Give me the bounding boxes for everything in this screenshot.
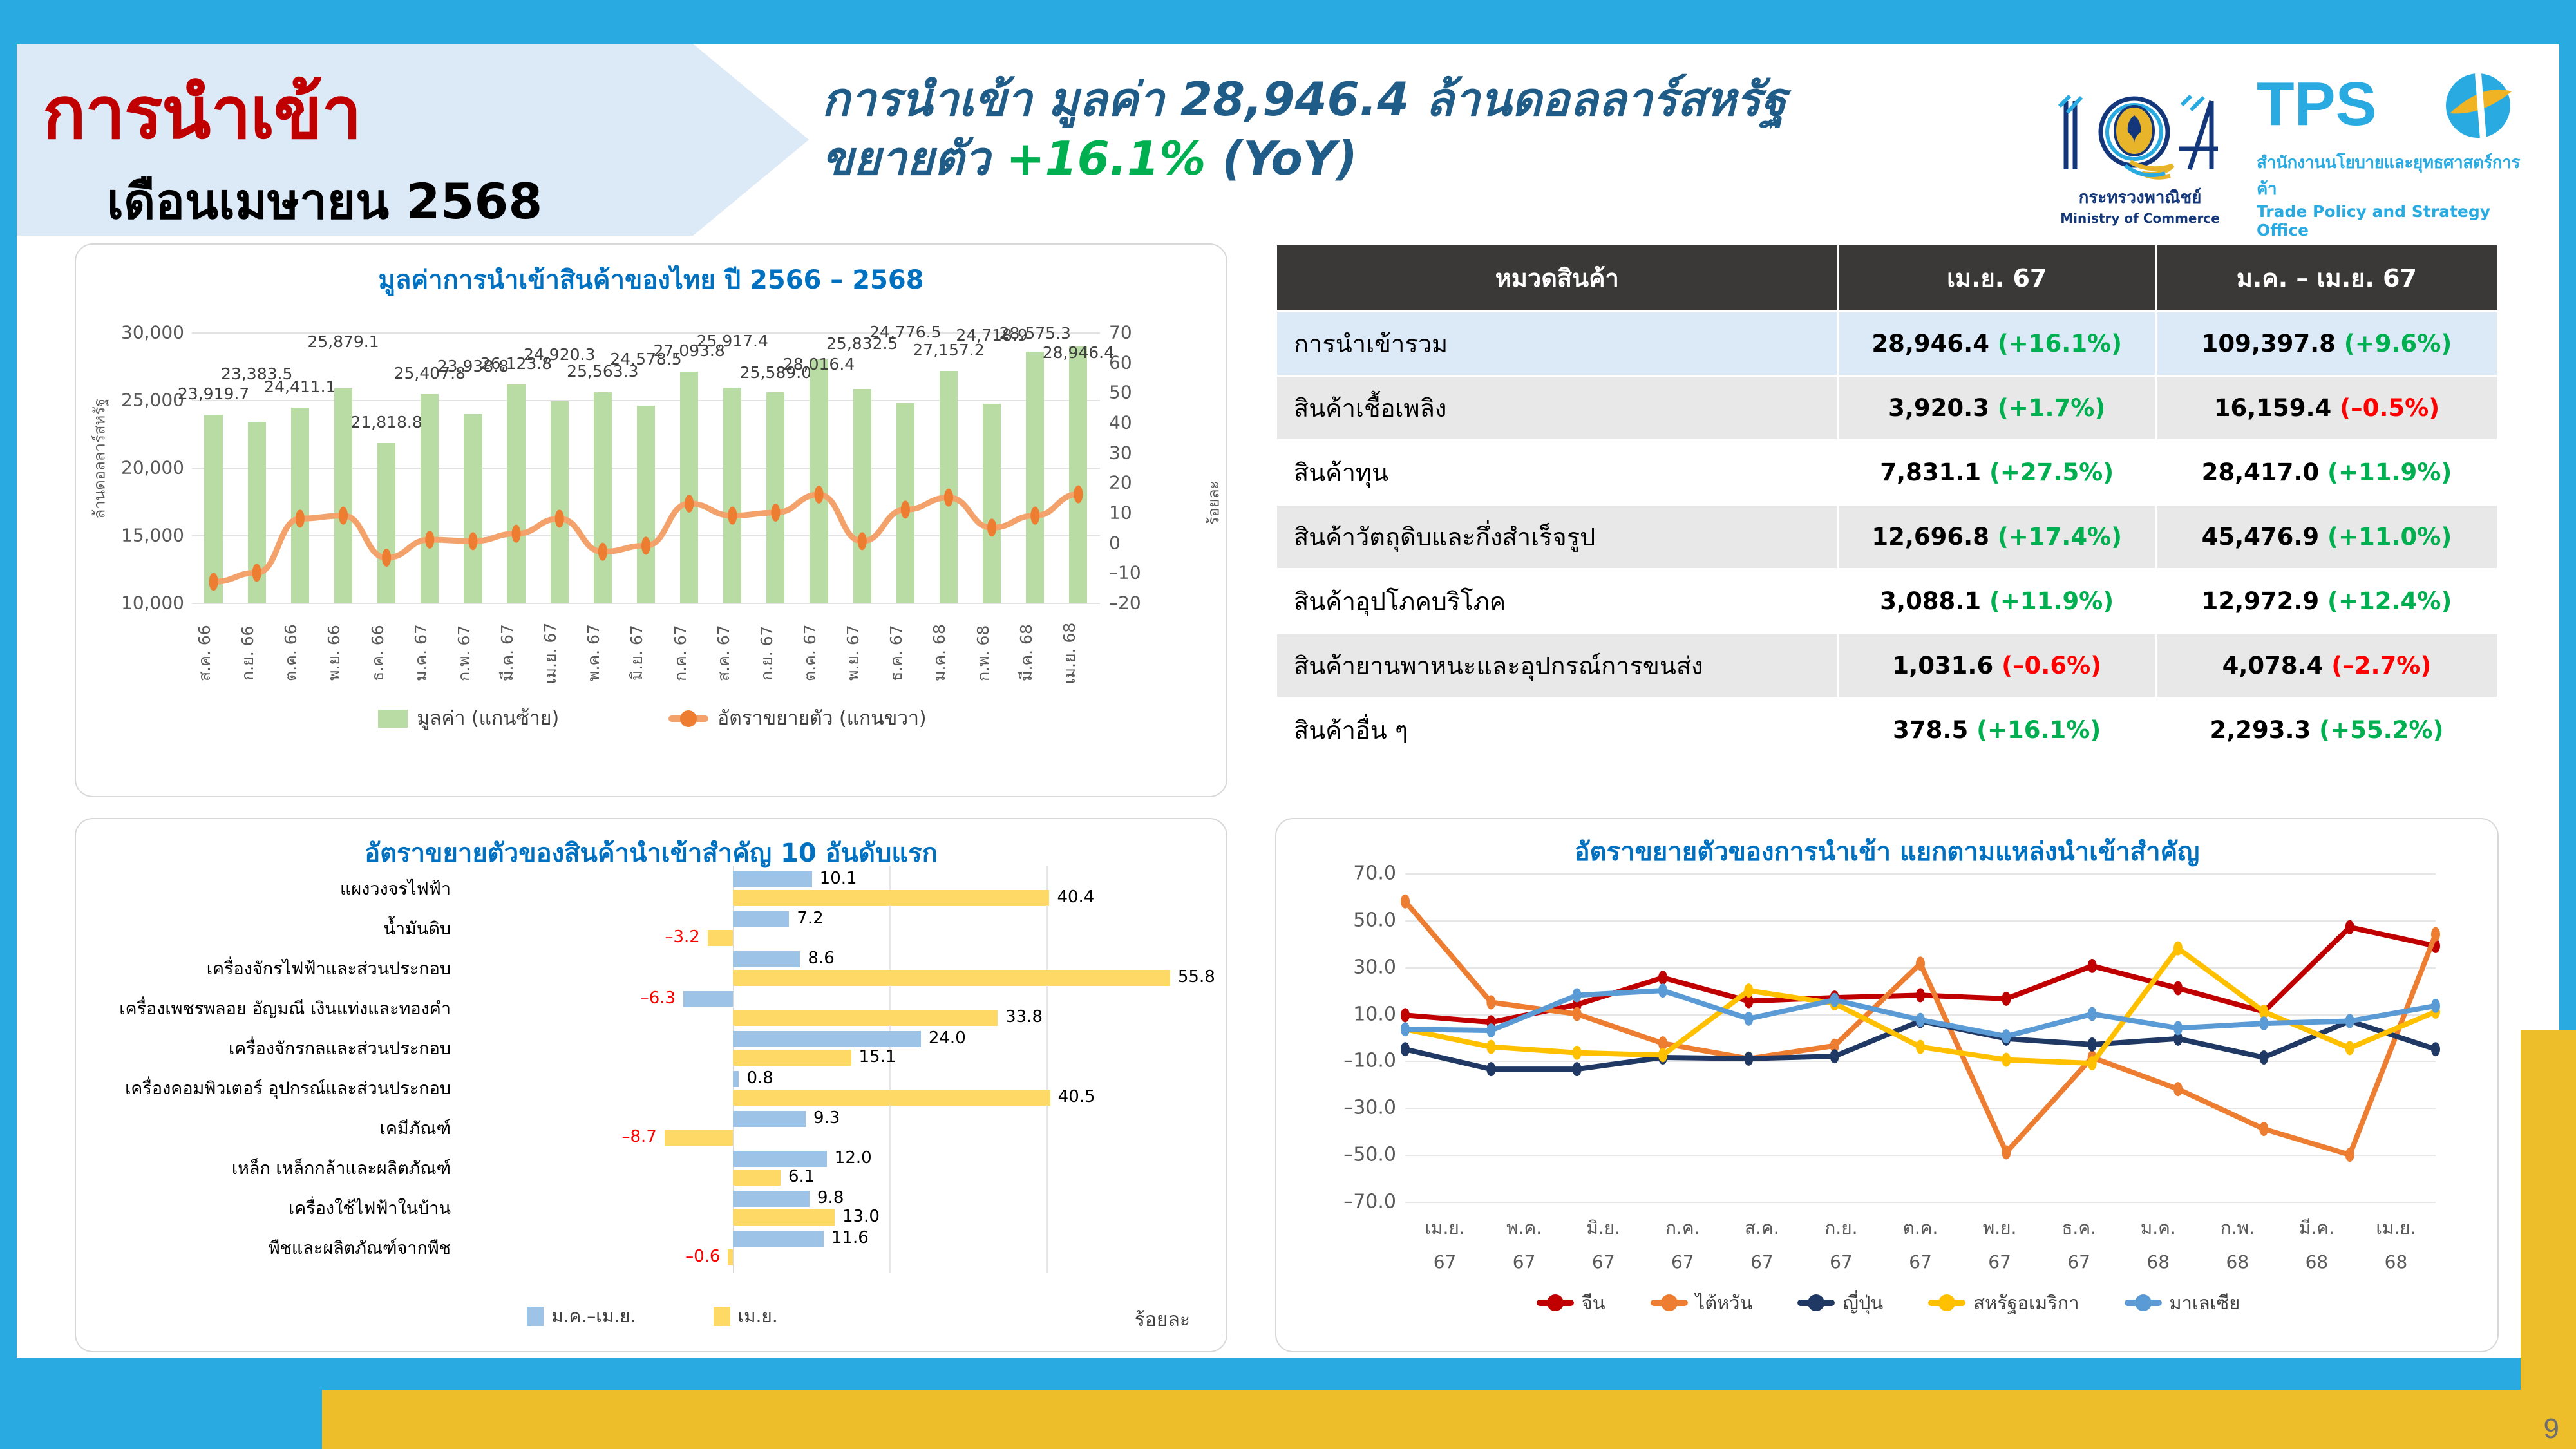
bar-value-label: –0.6 bbox=[685, 1247, 720, 1266]
legend-label: ไต้หวัน bbox=[1696, 1288, 1753, 1318]
top10-rows: แผงวงจรไฟฟ้า10.140.4น้ำมันดิบ7.2–3.2เครื… bbox=[102, 869, 1203, 1269]
table-row: การนำเข้ารวม28,946.4 (+16.1%)109,397.8 (… bbox=[1276, 312, 2498, 376]
legend-item-ญี่ปุ่น: ญี่ปุ่น bbox=[1797, 1288, 1883, 1318]
legend-label: ญี่ปุ่น bbox=[1842, 1288, 1883, 1318]
data-point bbox=[1486, 1040, 1495, 1054]
table-cell-cumulative: 4,078.4 (–2.7%) bbox=[2155, 634, 2497, 698]
x-axis-label: ธ.ค. 66 bbox=[365, 614, 408, 692]
data-point bbox=[1744, 1052, 1753, 1066]
data-point bbox=[1573, 1046, 1582, 1060]
table-cell-month: 378.5 (+16.1%) bbox=[1838, 698, 2155, 762]
combo-y2-axis-label: ร้อยละ bbox=[1201, 500, 1226, 526]
combo-y-axis-label: ล้านดอลลาร์สหรัฐ bbox=[87, 493, 112, 519]
cumulative-bar bbox=[733, 911, 790, 927]
legend-item-มาเลเซีย: มาเลเซีย bbox=[2125, 1288, 2240, 1318]
x-axis-label: เม.ย.68 bbox=[2356, 1211, 2436, 1279]
table-header-cumulative: ม.ค. – เม.ย. 67 bbox=[2155, 245, 2497, 312]
data-point bbox=[1916, 1040, 1925, 1054]
gridline bbox=[889, 1225, 891, 1273]
cumulative-bar bbox=[683, 991, 733, 1007]
bar-value-label: 7.2 bbox=[797, 909, 823, 928]
multiline-series bbox=[1405, 873, 2436, 1202]
bar-value-label: 15.1 bbox=[859, 1047, 896, 1066]
category-label: เครื่องใช้ไฟฟ้าในบ้าน bbox=[102, 1200, 462, 1218]
x-axis-label: ต.ค. 66 bbox=[278, 614, 321, 692]
data-point bbox=[2431, 927, 2440, 942]
bar-value-label: 12.0 bbox=[835, 1148, 872, 1168]
list-item: พืชและผลิตภัณฑ์จากพืช11.6–0.6 bbox=[102, 1229, 1203, 1269]
y-axis-tick: –10.0 bbox=[1343, 1050, 1396, 1072]
month-bar bbox=[708, 930, 733, 946]
table-cell-month: 3,920.3 (+1.7%) bbox=[1838, 376, 2155, 440]
x-axis-label: ส.ค. 66 bbox=[192, 614, 235, 692]
category-label: พืชและผลิตภัณฑ์จากพืช bbox=[102, 1240, 462, 1258]
data-point bbox=[1401, 1042, 1410, 1056]
table-cell-cumulative: 16,159.4 (–0.5%) bbox=[2155, 376, 2497, 440]
month-bar bbox=[728, 1249, 732, 1265]
x-axis-label: ส.ค. 67 bbox=[711, 614, 754, 692]
y-axis-tick: 10.0 bbox=[1353, 1003, 1396, 1025]
legend-label: มาเลเซีย bbox=[2170, 1288, 2240, 1318]
data-point bbox=[1486, 1062, 1495, 1076]
bar-value-label: 10.1 bbox=[820, 869, 857, 888]
bar-value-label: 11.6 bbox=[831, 1228, 869, 1247]
y2-axis-tick: –10 bbox=[1109, 562, 1141, 583]
list-item: เครื่องจักรกลและส่วนประกอบ24.015.1 bbox=[102, 1029, 1203, 1069]
line-swatch-icon bbox=[2125, 1300, 2162, 1306]
table-header-row: หมวดสินค้า เม.ย. 67 ม.ค. – เม.ย. 67 bbox=[1276, 245, 2498, 312]
green-bar-swatch-icon bbox=[378, 710, 408, 728]
y-axis-tick: 70.0 bbox=[1353, 862, 1396, 885]
multiline-plot: 70.050.030.010.0–10.0–30.0–50.0–70.0 bbox=[1405, 873, 2436, 1202]
month-bar bbox=[733, 970, 1170, 986]
table-header-category: หมวดสินค้า bbox=[1276, 245, 1839, 312]
tpso-logo: TPS สำนักงานนโยบายและยุทธศาสตร์การค้า Tr… bbox=[2257, 72, 2533, 240]
legend-item-จีน: จีน bbox=[1537, 1288, 1605, 1318]
bar-value-label: –3.2 bbox=[665, 927, 699, 947]
x-axis-label: มี.ค. 68 bbox=[1014, 614, 1057, 692]
legend-label-value: มูลค่า (แกนซ้าย) bbox=[417, 703, 559, 734]
orange-line-swatch-icon bbox=[668, 715, 708, 722]
bar-value-label: 8.6 bbox=[808, 949, 834, 968]
top10-unit-label: ร้อยละ bbox=[1135, 1305, 1190, 1335]
moc-label-th: กระทรวงพาณิชย์ bbox=[2047, 184, 2233, 211]
data-point bbox=[1744, 983, 1753, 998]
list-item: แผงวงจรไฟฟ้า10.140.4 bbox=[102, 869, 1203, 909]
data-point bbox=[2173, 1021, 2183, 1035]
growth-point bbox=[944, 489, 953, 507]
headline-line-1: การนำเข้า มูลค่า 28,946.4 ล้านดอลลาร์สหร… bbox=[822, 70, 2078, 129]
top10-growth-chart-card: อัตราขยายตัวของสินค้านำเข้าสำคัญ 10 อันด… bbox=[75, 818, 1227, 1352]
x-axis-label: เม.ย.67 bbox=[1405, 1211, 1484, 1279]
data-point bbox=[2431, 1042, 2440, 1056]
data-point bbox=[2002, 1146, 2011, 1160]
table-row: สินค้าวัตถุดิบและกึ่งสำเร็จรูป12,696.8 (… bbox=[1276, 505, 2498, 569]
moc-emblem-icon bbox=[2047, 86, 2233, 183]
headline-suffix: (YoY) bbox=[1206, 131, 1357, 185]
table-cell-cumulative: 12,972.9 (+12.4%) bbox=[2155, 569, 2497, 634]
data-point bbox=[1486, 995, 1495, 1009]
growth-point bbox=[598, 543, 607, 561]
svg-text:TPS: TPS bbox=[2257, 72, 2377, 138]
month-bar bbox=[733, 1050, 851, 1066]
data-point bbox=[1401, 1008, 1410, 1022]
data-point bbox=[2173, 1082, 2183, 1096]
bar-value-label: –6.3 bbox=[641, 989, 676, 1008]
growth-point bbox=[641, 536, 650, 554]
category-label: เครื่องเพชรพลอย อัญมณี เงินแท่งและทองคำ bbox=[102, 1000, 462, 1018]
yellow-bottom-band bbox=[309, 1390, 2576, 1449]
data-point bbox=[2345, 1014, 2354, 1028]
bar-value-label: 6.1 bbox=[788, 1167, 815, 1186]
top10-plot-area: แผงวงจรไฟฟ้า10.140.4น้ำมันดิบ7.2–3.2เครื… bbox=[76, 866, 1229, 1291]
growth-point bbox=[987, 518, 996, 536]
x-axis-label: ก.พ. 68 bbox=[971, 614, 1014, 692]
y2-axis-tick: 70 bbox=[1109, 322, 1132, 343]
multiline-x-axis-labels: เม.ย.67พ.ค.67มิ.ย.67ก.ค.67ส.ค.67ก.ย.67ต.… bbox=[1405, 1211, 2436, 1279]
page-subtitle: เดือนเมษายน 2568 bbox=[107, 163, 542, 240]
table-cell-month: 28,946.4 (+16.1%) bbox=[1838, 312, 2155, 376]
y2-axis-tick: 30 bbox=[1109, 442, 1132, 463]
table-cell-category: สินค้าอุปโภคบริโภค bbox=[1276, 569, 1839, 634]
x-axis-label: ธ.ค. 67 bbox=[884, 614, 927, 692]
combo-legend: มูลค่า (แกนซ้าย) อัตราขยายตัว (แกนขวา) bbox=[76, 703, 1229, 734]
ministry-of-commerce-logo: กระทรวงพาณิชย์ Ministry of Commerce bbox=[2047, 86, 2233, 226]
bar-track: 24.015.1 bbox=[462, 1029, 1203, 1069]
month-bar bbox=[665, 1130, 733, 1146]
growth-point bbox=[728, 507, 737, 525]
bar-value-label: 40.5 bbox=[1058, 1087, 1095, 1106]
growth-point bbox=[512, 525, 521, 543]
table-cell-cumulative: 45,476.9 (+11.0%) bbox=[2155, 505, 2497, 569]
line-swatch-icon bbox=[1651, 1300, 1688, 1306]
list-item: เครื่องใช้ไฟฟ้าในบ้าน9.813.0 bbox=[102, 1189, 1203, 1229]
headline-block: การนำเข้า มูลค่า 28,946.4 ล้านดอลลาร์สหร… bbox=[822, 70, 2078, 188]
data-point bbox=[2431, 999, 2440, 1013]
bar-value-label: 24.0 bbox=[929, 1028, 966, 1048]
blue-bar-swatch-icon bbox=[527, 1307, 544, 1326]
data-point bbox=[2259, 1050, 2268, 1065]
x-axis-label: ก.ย. 67 bbox=[754, 614, 797, 692]
legend-label-growth: อัตราขยายตัว (แกนขวา) bbox=[717, 703, 926, 734]
bar-track: 9.3–8.7 bbox=[462, 1109, 1203, 1149]
y-axis-tick: 15,000 bbox=[121, 525, 184, 546]
legend-item-ไต้หวัน: ไต้หวัน bbox=[1651, 1288, 1753, 1318]
moc-label-en: Ministry of Commerce bbox=[2047, 211, 2233, 226]
bar-value-label: 0.8 bbox=[746, 1068, 773, 1088]
x-axis-label: ก.ย. 66 bbox=[235, 614, 278, 692]
data-point bbox=[1401, 1022, 1410, 1036]
data-point bbox=[1830, 993, 1839, 1007]
x-axis-label: ธ.ค.67 bbox=[2040, 1211, 2119, 1279]
bar-track: 10.140.4 bbox=[462, 869, 1203, 909]
category-label: เครื่องจักรไฟฟ้าและส่วนประกอบ bbox=[102, 960, 462, 978]
table-cell-category: สินค้าอื่น ๆ bbox=[1276, 698, 1839, 762]
growth-point bbox=[252, 563, 261, 582]
growth-point bbox=[858, 532, 867, 550]
data-point bbox=[2002, 992, 2011, 1006]
table-cell-cumulative: 2,293.3 (+55.2%) bbox=[2155, 698, 2497, 762]
line-swatch-icon bbox=[1928, 1300, 1965, 1306]
x-axis-label: พ.ย.67 bbox=[1960, 1211, 2040, 1279]
y-axis-tick: –50.0 bbox=[1343, 1144, 1396, 1166]
tpso-wordmark-icon: TPS bbox=[2257, 72, 2533, 149]
x-axis-label: ก.ค. 67 bbox=[668, 614, 711, 692]
category-label: เครื่องจักรกลและส่วนประกอบ bbox=[102, 1040, 462, 1058]
data-point bbox=[1486, 1023, 1495, 1037]
y2-axis-tick: 0 bbox=[1109, 532, 1121, 553]
data-point bbox=[1658, 971, 1667, 985]
y-axis-tick: 30.0 bbox=[1353, 956, 1396, 978]
data-point bbox=[1401, 895, 1410, 909]
data-point bbox=[2173, 942, 2183, 956]
blue-bottom-left-band bbox=[0, 1390, 322, 1449]
cumulative-bar bbox=[733, 1031, 921, 1047]
import-value-chart-plot-area: ล้านดอลลาร์สหรัฐ ร้อยละ 30,00025,00020,0… bbox=[76, 300, 1229, 751]
line-swatch-icon bbox=[1537, 1300, 1574, 1306]
bar-value-label: 9.8 bbox=[817, 1188, 844, 1207]
legend-label: จีน bbox=[1582, 1288, 1605, 1318]
y-axis-tick: 50.0 bbox=[1353, 909, 1396, 931]
table-header-month: เม.ย. 67 bbox=[1838, 245, 2155, 312]
cumulative-bar bbox=[733, 1151, 827, 1167]
import-value-chart-card: มูลค่าการนำเข้าสินค้าของไทย ปี 2566 – 25… bbox=[75, 243, 1227, 797]
y2-axis-tick: 20 bbox=[1109, 472, 1132, 493]
table-row: สินค้าอื่น ๆ378.5 (+16.1%)2,293.3 (+55.2… bbox=[1276, 698, 2498, 762]
growth-point bbox=[1074, 486, 1083, 504]
x-axis-label: พ.ย. 66 bbox=[321, 614, 365, 692]
legend-item-สหรัฐอเมริกา: สหรัฐอเมริกา bbox=[1928, 1288, 2079, 1318]
bar-track: 9.813.0 bbox=[462, 1189, 1203, 1229]
table-cell-category: การนำเข้ารวม bbox=[1276, 312, 1839, 376]
x-axis-label: ม.ค.68 bbox=[2119, 1211, 2198, 1279]
table-cell-cumulative: 109,397.8 (+9.6%) bbox=[2155, 312, 2497, 376]
table-cell-category: สินค้าทุน bbox=[1276, 440, 1839, 505]
growth-point bbox=[901, 500, 910, 518]
data-point bbox=[2088, 1037, 2097, 1052]
data-point bbox=[1744, 1012, 1753, 1026]
table-cell-category: สินค้าวัตถุดิบและกึ่งสำเร็จรูป bbox=[1276, 505, 1839, 569]
cumulative-bar bbox=[733, 1231, 824, 1247]
list-item: เครื่องเพชรพลอย อัญมณี เงินแท่งและทองคำ–… bbox=[102, 989, 1203, 1029]
growth-point bbox=[771, 504, 780, 522]
line-จีน bbox=[1405, 927, 2436, 1023]
data-point bbox=[2259, 1016, 2268, 1030]
growth-point bbox=[685, 495, 694, 513]
list-item: เครื่องจักรไฟฟ้าและส่วนประกอบ8.655.8 bbox=[102, 949, 1203, 989]
table-cell-month: 12,696.8 (+17.4%) bbox=[1838, 505, 2155, 569]
growth-point bbox=[339, 507, 348, 525]
headline-line-2: ขยายตัว +16.1% (YoY) bbox=[822, 129, 2078, 188]
data-point bbox=[2002, 1029, 2011, 1043]
growth-rate-line bbox=[192, 332, 1100, 603]
table-row: สินค้าอุปโภคบริโภค3,088.1 (+11.9%)12,972… bbox=[1276, 569, 2498, 634]
legend-item-value: มูลค่า (แกนซ้าย) bbox=[378, 703, 559, 734]
x-axis-label: มิ.ย.67 bbox=[1564, 1211, 1643, 1279]
data-point bbox=[2345, 1148, 2354, 1162]
list-item: เหล็ก เหล็กกล้าและผลิตภัณฑ์12.06.1 bbox=[102, 1149, 1203, 1189]
yellow-bar-swatch-icon bbox=[714, 1307, 730, 1326]
page-number: 9 bbox=[2544, 1413, 2559, 1445]
growth-point bbox=[296, 509, 305, 527]
cumulative-bar bbox=[733, 1071, 739, 1087]
data-point bbox=[2259, 1122, 2268, 1136]
y2-axis-tick: 40 bbox=[1109, 412, 1132, 433]
headline-growth-pct: +16.1% bbox=[1006, 131, 1206, 185]
x-axis-label: ก.พ.68 bbox=[2198, 1211, 2277, 1279]
legend-item-cumulative: ม.ค.–เม.ย. bbox=[527, 1302, 636, 1331]
x-axis-label: เม.ย. 68 bbox=[1057, 614, 1100, 692]
bar-value-label: 55.8 bbox=[1178, 967, 1215, 987]
import-category-table: หมวดสินค้า เม.ย. 67 ม.ค. – เม.ย. 67 การน… bbox=[1275, 243, 2499, 797]
table-row: สินค้ายานพาหนะและอุปกรณ์การขนส่ง1,031.6 … bbox=[1276, 634, 2498, 698]
data-point bbox=[1573, 988, 1582, 1002]
data-point bbox=[2345, 920, 2354, 934]
x-axis-label: ก.ย.67 bbox=[1801, 1211, 1880, 1279]
y2-axis-tick: 50 bbox=[1109, 382, 1132, 403]
category-label: น้ำมันดิบ bbox=[102, 920, 462, 938]
legend-label-month: เม.ย. bbox=[738, 1302, 778, 1331]
data-point bbox=[1916, 956, 1925, 971]
x-axis-label: ม.ค. 67 bbox=[408, 614, 451, 692]
table-cell-cumulative: 28,417.0 (+11.9%) bbox=[2155, 440, 2497, 505]
data-point bbox=[1916, 1013, 1925, 1027]
table-cell-category: สินค้าเชื้อเพลิง bbox=[1276, 376, 1839, 440]
tpso-label-en: Trade Policy and Strategy Office bbox=[2257, 202, 2533, 240]
x-axis-label: พ.ค.67 bbox=[1484, 1211, 1564, 1279]
data-point bbox=[1573, 1062, 1582, 1076]
category-label: แผงวงจรไฟฟ้า bbox=[102, 880, 462, 898]
x-axis-label: ส.ค.67 bbox=[1722, 1211, 1801, 1279]
multiline-legend: จีนไต้หวันญี่ปุ่นสหรัฐอเมริกามาเลเซีย bbox=[1276, 1288, 2500, 1318]
x-axis-label: เม.ย. 67 bbox=[538, 614, 581, 692]
data-point bbox=[2345, 1041, 2354, 1055]
cumulative-bar bbox=[733, 1111, 806, 1127]
bar-value-label: –8.7 bbox=[622, 1127, 657, 1146]
legend-item-growth: อัตราขยายตัว (แกนขวา) bbox=[668, 703, 926, 734]
combo-plot: 30,00025,00020,00015,00010,0007060504030… bbox=[192, 332, 1100, 603]
y2-axis-tick: 10 bbox=[1109, 502, 1132, 524]
growth-point bbox=[382, 549, 391, 567]
cumulative-bar bbox=[733, 871, 812, 887]
bar-track: 8.655.8 bbox=[462, 949, 1203, 989]
month-bar bbox=[733, 1170, 781, 1186]
x-axis-label: พ.ย. 67 bbox=[840, 614, 884, 692]
list-item: น้ำมันดิบ7.2–3.2 bbox=[102, 909, 1203, 949]
y-axis-tick: 20,000 bbox=[121, 457, 184, 478]
growth-point bbox=[555, 509, 564, 527]
y-axis-tick: 30,000 bbox=[121, 322, 184, 343]
bar-value-label: 13.0 bbox=[842, 1207, 880, 1226]
y-axis-tick: 25,000 bbox=[121, 390, 184, 411]
category-label: เครื่องคอมพิวเตอร์ อุปกรณ์และส่วนประกอบ bbox=[102, 1080, 462, 1098]
x-axis-label: ก.ค.67 bbox=[1643, 1211, 1722, 1279]
month-bar bbox=[733, 890, 1050, 906]
data-point bbox=[2088, 1007, 2097, 1021]
list-item: เคมีภัณฑ์9.3–8.7 bbox=[102, 1109, 1203, 1149]
growth-point bbox=[1030, 507, 1039, 525]
logo-group: กระทรวงพาณิชย์ Ministry of Commerce TPS … bbox=[2047, 72, 2533, 240]
gridline bbox=[1405, 1202, 2436, 1203]
gridline bbox=[192, 603, 1100, 604]
x-axis-label: มี.ค. 67 bbox=[495, 614, 538, 692]
category-label: เหล็ก เหล็กกล้าและผลิตภัณฑ์ bbox=[102, 1160, 462, 1178]
bar-track: 0.840.5 bbox=[462, 1069, 1203, 1109]
data-point bbox=[1830, 1049, 1839, 1063]
page-title: การนำเข้า bbox=[43, 55, 361, 170]
bar-track: –6.333.8 bbox=[462, 989, 1203, 1029]
gridline bbox=[1046, 1225, 1048, 1273]
x-axis-label: ก.พ. 67 bbox=[451, 614, 495, 692]
data-point bbox=[2002, 1053, 2011, 1067]
data-point bbox=[2088, 959, 2097, 973]
slide-root: 9 การนำเข้า เดือนเมษายน 2568 การนำเข้า ม… bbox=[0, 0, 2576, 1449]
top10-legend: ม.ค.–เม.ย. เม.ย. bbox=[76, 1302, 1229, 1331]
data-point bbox=[1658, 983, 1667, 998]
combo-x-axis-labels: ส.ค. 66ก.ย. 66ต.ค. 66พ.ย. 66ธ.ค. 66ม.ค. … bbox=[192, 614, 1100, 692]
x-axis-label: มิ.ย. 67 bbox=[624, 614, 667, 692]
x-axis-label: พ.ค. 67 bbox=[581, 614, 624, 692]
x-axis-label: ม.ค. 68 bbox=[927, 614, 970, 692]
growth-point bbox=[815, 486, 824, 504]
x-axis-label: มี.ค.68 bbox=[2277, 1211, 2356, 1279]
bar-value-label: 40.4 bbox=[1057, 887, 1094, 907]
table-row: สินค้าทุน7,831.1 (+27.5%)28,417.0 (+11.9… bbox=[1276, 440, 2498, 505]
bar-value-label: 9.3 bbox=[813, 1108, 840, 1128]
cumulative-bar bbox=[733, 951, 800, 967]
headline-prefix: ขยายตัว bbox=[822, 131, 1006, 185]
growth-point bbox=[209, 573, 218, 591]
top-blue-band bbox=[0, 0, 2576, 44]
bar-track: 7.2–3.2 bbox=[462, 909, 1203, 949]
x-axis-label: ต.ค. 67 bbox=[797, 614, 840, 692]
growth-point bbox=[425, 531, 434, 549]
table-cell-category: สินค้ายานพาหนะและอุปกรณ์การขนส่ง bbox=[1276, 634, 1839, 698]
yellow-right-band bbox=[2521, 1030, 2576, 1449]
growth-point bbox=[468, 532, 477, 550]
line-swatch-icon bbox=[1797, 1300, 1835, 1306]
growth-by-source-chart-card: อัตราขยายตัวของการนำเข้า แยกตามแหล่งนำเข… bbox=[1275, 818, 2499, 1352]
table-cell-month: 3,088.1 (+11.9%) bbox=[1838, 569, 2155, 634]
x-axis-label: ต.ค.67 bbox=[1880, 1211, 1960, 1279]
bar-track: 12.06.1 bbox=[462, 1149, 1203, 1189]
data-point bbox=[2088, 1056, 2097, 1070]
y-axis-tick: –70.0 bbox=[1343, 1191, 1396, 1213]
slide-header: การนำเข้า เดือนเมษายน 2568 การนำเข้า มูล… bbox=[17, 44, 2559, 237]
data-point bbox=[2173, 981, 2183, 996]
category-label: เคมีภัณฑ์ bbox=[102, 1120, 462, 1138]
month-bar bbox=[733, 1010, 998, 1026]
y-axis-tick: 10,000 bbox=[121, 592, 184, 614]
y-axis-tick: –30.0 bbox=[1343, 1097, 1396, 1119]
growth-by-source-plot-area: 70.050.030.010.0–10.0–30.0–50.0–70.0 เม.… bbox=[1276, 858, 2500, 1347]
data-point bbox=[1658, 1048, 1667, 1062]
table-cell-month: 1,031.6 (–0.6%) bbox=[1838, 634, 2155, 698]
legend-label: สหรัฐอเมริกา bbox=[1973, 1288, 2079, 1318]
table-cell-month: 7,831.1 (+27.5%) bbox=[1838, 440, 2155, 505]
table-row: สินค้าเชื้อเพลิง3,920.3 (+1.7%)16,159.4 … bbox=[1276, 376, 2498, 440]
y2-axis-tick: –20 bbox=[1109, 592, 1141, 614]
month-bar bbox=[733, 1090, 1050, 1106]
cumulative-bar bbox=[733, 1191, 810, 1207]
legend-item-month: เม.ย. bbox=[714, 1302, 778, 1331]
list-item: เครื่องคอมพิวเตอร์ อุปกรณ์และส่วนประกอบ0… bbox=[102, 1069, 1203, 1109]
data-point bbox=[1573, 1007, 1582, 1021]
bar-value-label: 33.8 bbox=[1005, 1007, 1043, 1027]
legend-label-cumulative: ม.ค.–เม.ย. bbox=[551, 1302, 636, 1331]
import-value-chart-title: มูลค่าการนำเข้าสินค้าของไทย ปี 2566 – 25… bbox=[76, 259, 1226, 300]
tpso-label-th: สำนักงานนโยบายและยุทธศาสตร์การค้า bbox=[2257, 149, 2533, 202]
